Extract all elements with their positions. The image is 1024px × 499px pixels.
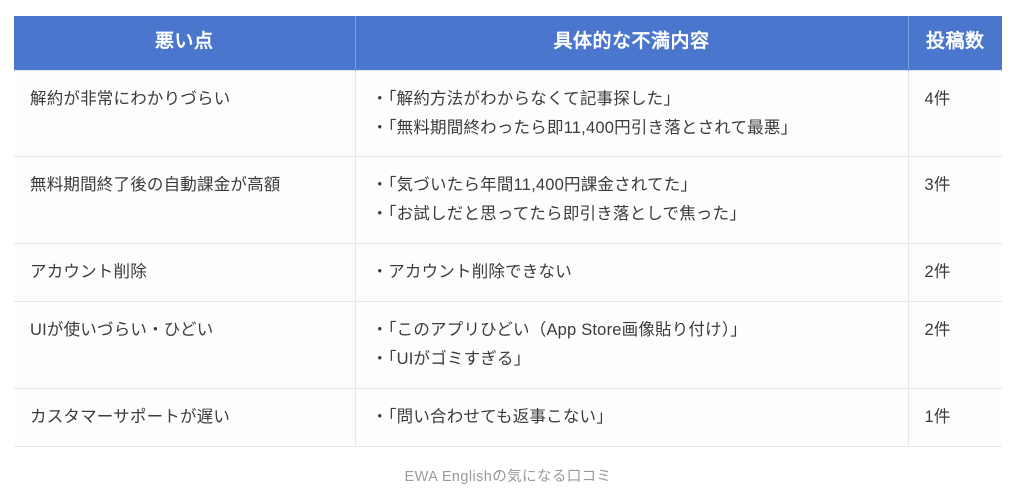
column-header-bad-point: 悪い点 (14, 16, 355, 70)
cell-bad-point: 解約が非常にわかりづらい (14, 70, 355, 157)
detail-line: ・「気づいたら年間11,400円課金されてた」 (372, 171, 898, 200)
table-row: アカウント削除 ・アカウント削除できない 2件 (14, 244, 1002, 302)
detail-line: ・「このアプリひどい（App Store画像貼り付け）」 (372, 316, 898, 345)
table-header-row: 悪い点 具体的な不満内容 投稿数 (14, 16, 1002, 70)
page-root: 悪い点 具体的な不満内容 投稿数 解約が非常にわかりづらい ・「解約方法がわから… (0, 0, 1024, 499)
cell-count: 1件 (908, 388, 1002, 446)
cell-count: 2件 (908, 244, 1002, 302)
table-row: UIが使いづらい・ひどい ・「このアプリひどい（App Store画像貼り付け）… (14, 302, 1002, 389)
cell-count: 4件 (908, 70, 1002, 157)
column-header-count: 投稿数 (908, 16, 1002, 70)
detail-line: ・「お試しだと思ってたら即引き落としで焦った」 (372, 200, 898, 229)
table-body: 解約が非常にわかりづらい ・「解約方法がわからなくて記事探した」 ・「無料期間終… (14, 70, 1002, 446)
detail-line: ・「解約方法がわからなくて記事探した」 (372, 85, 898, 114)
detail-line: ・「問い合わせても返事こない」 (372, 403, 898, 432)
cell-bad-point: UIが使いづらい・ひどい (14, 302, 355, 389)
table-row: カスタマーサポートが遅い ・「問い合わせても返事こない」 1件 (14, 388, 1002, 446)
detail-line: ・アカウント削除できない (372, 258, 898, 287)
cell-bad-point: カスタマーサポートが遅い (14, 388, 355, 446)
cell-detail: ・「このアプリひどい（App Store画像貼り付け）」 ・「UIがゴミすぎる」 (355, 302, 908, 389)
cell-detail: ・「気づいたら年間11,400円課金されてた」 ・「お試しだと思ってたら即引き落… (355, 157, 908, 244)
table-caption: EWA Englishの気になる口コミ (14, 465, 1002, 486)
cell-count: 3件 (908, 157, 1002, 244)
cell-bad-point: 無料期間終了後の自動課金が高額 (14, 157, 355, 244)
detail-line: ・「無料期間終わったら即11,400円引き落とされて最悪」 (372, 114, 898, 143)
cell-detail: ・「問い合わせても返事こない」 (355, 388, 908, 446)
cell-detail: ・「解約方法がわからなくて記事探した」 ・「無料期間終わったら即11,400円引… (355, 70, 908, 157)
negative-reviews-table: 悪い点 具体的な不満内容 投稿数 解約が非常にわかりづらい ・「解約方法がわから… (14, 16, 1002, 447)
table-row: 解約が非常にわかりづらい ・「解約方法がわからなくて記事探した」 ・「無料期間終… (14, 70, 1002, 157)
cell-detail: ・アカウント削除できない (355, 244, 908, 302)
detail-line: ・「UIがゴミすぎる」 (372, 345, 898, 374)
table-header: 悪い点 具体的な不満内容 投稿数 (14, 16, 1002, 70)
cell-bad-point: アカウント削除 (14, 244, 355, 302)
column-header-detail: 具体的な不満内容 (355, 16, 908, 70)
table-row: 無料期間終了後の自動課金が高額 ・「気づいたら年間11,400円課金されてた」 … (14, 157, 1002, 244)
cell-count: 2件 (908, 302, 1002, 389)
